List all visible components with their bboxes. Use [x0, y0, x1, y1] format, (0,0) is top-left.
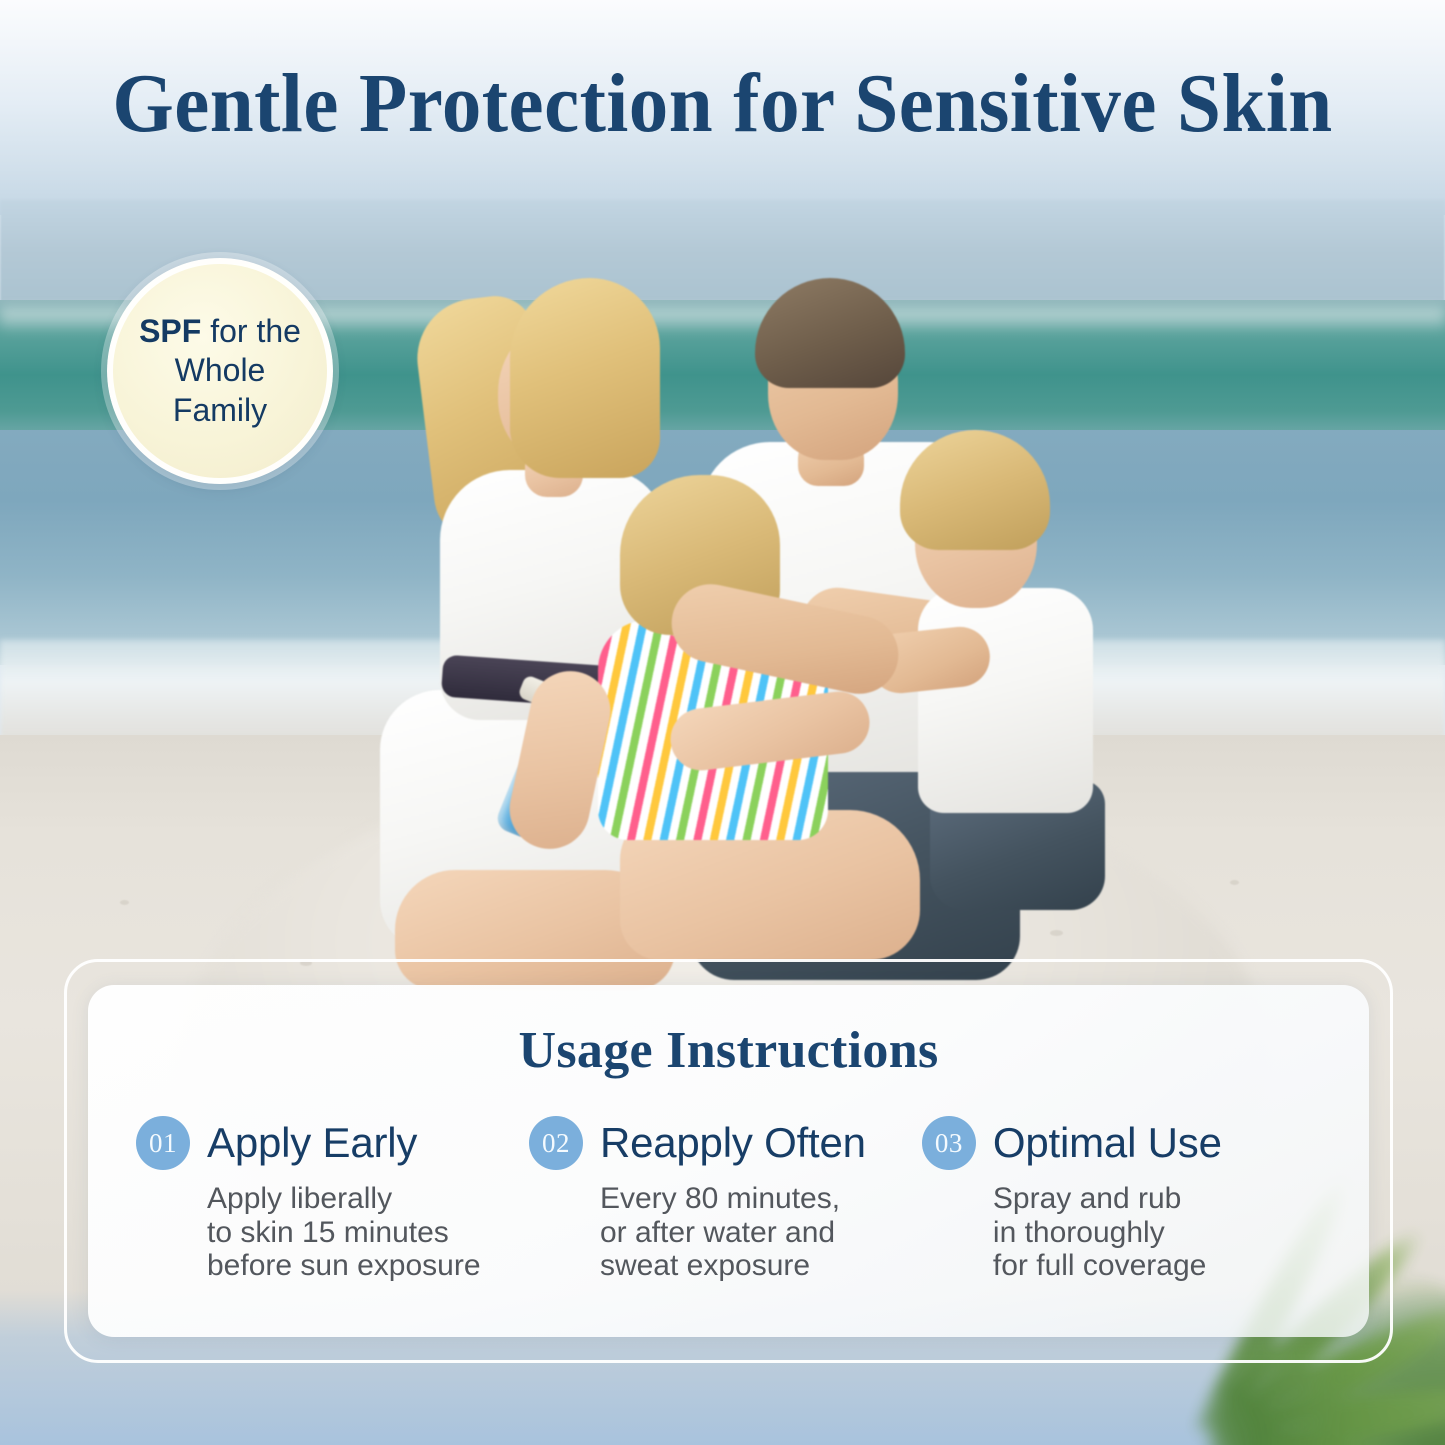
step-description: Apply liberally to skin 15 minutes befor…: [207, 1182, 511, 1283]
spf-badge-label: SPF for the Whole Family: [113, 312, 327, 429]
sand-speck: [1230, 880, 1239, 885]
mother-hair-right: [510, 278, 660, 478]
usage-step: 03 Optimal Use Spray and rub in thorough…: [922, 1116, 1315, 1283]
family-group: [370, 270, 1090, 870]
step-number-badge: 02: [529, 1116, 583, 1170]
usage-step-header: 01 Apply Early: [136, 1116, 511, 1170]
sand-speck: [1050, 930, 1063, 936]
page-title: Gentle Protection for Sensitive Skin: [43, 62, 1401, 146]
spf-badge-bold: SPF: [139, 313, 201, 349]
step-title: Optimal Use: [993, 1119, 1222, 1167]
usage-instructions-title: Usage Instructions: [88, 1021, 1369, 1080]
usage-steps-list: 01 Apply Early Apply liberally to skin 1…: [88, 1116, 1369, 1283]
usage-step-header: 03 Optimal Use: [922, 1116, 1297, 1170]
sand-speck: [120, 900, 129, 905]
step-description: Spray and rub in thoroughly for full cov…: [993, 1182, 1297, 1283]
boy-shirt: [918, 588, 1093, 813]
sand-speck: [300, 960, 312, 966]
infographic-canvas: Gentle Protection for Sensitive Skin SPF…: [0, 0, 1445, 1445]
step-number-badge: 03: [922, 1116, 976, 1170]
usage-instructions-card: Usage Instructions 01 Apply Early Apply …: [88, 985, 1369, 1337]
father-hair: [755, 278, 905, 388]
usage-step: 01 Apply Early Apply liberally to skin 1…: [136, 1116, 529, 1283]
usage-step-header: 02 Reapply Often: [529, 1116, 904, 1170]
spf-badge: SPF for the Whole Family: [107, 258, 333, 484]
step-title: Reapply Often: [600, 1119, 866, 1167]
usage-step: 02 Reapply Often Every 80 minutes, or af…: [529, 1116, 922, 1283]
step-number-badge: 01: [136, 1116, 190, 1170]
step-description: Every 80 minutes, or after water and swe…: [600, 1182, 904, 1283]
step-title: Apply Early: [207, 1119, 417, 1167]
